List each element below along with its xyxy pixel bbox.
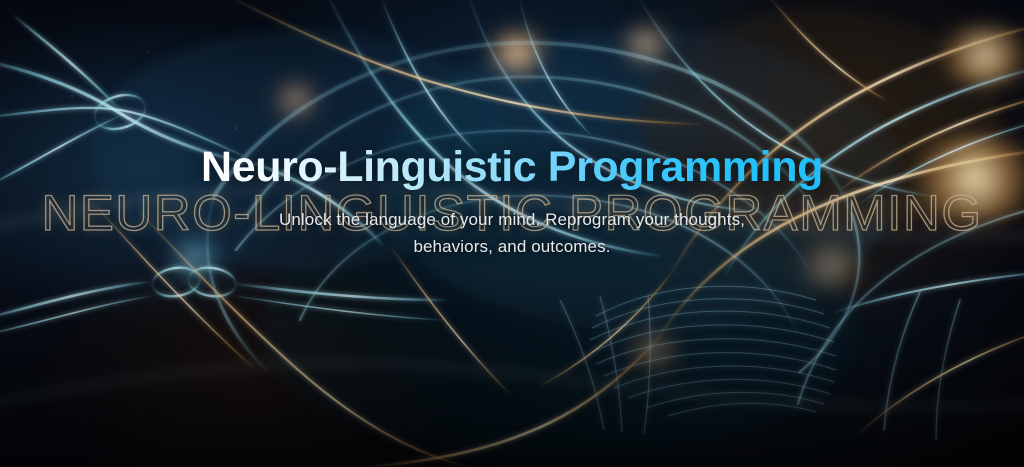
page-title: Neuro-Linguistic Programming <box>201 142 823 192</box>
hero-banner: NEURO-LINGUISTIC PROGRAMMING Neuro-Lingu… <box>0 0 1024 467</box>
hero-subtitle: Unlock the language of your mind. Reprog… <box>262 206 762 260</box>
hero-content: Neuro-Linguistic Programming Unlock the … <box>0 0 1024 467</box>
